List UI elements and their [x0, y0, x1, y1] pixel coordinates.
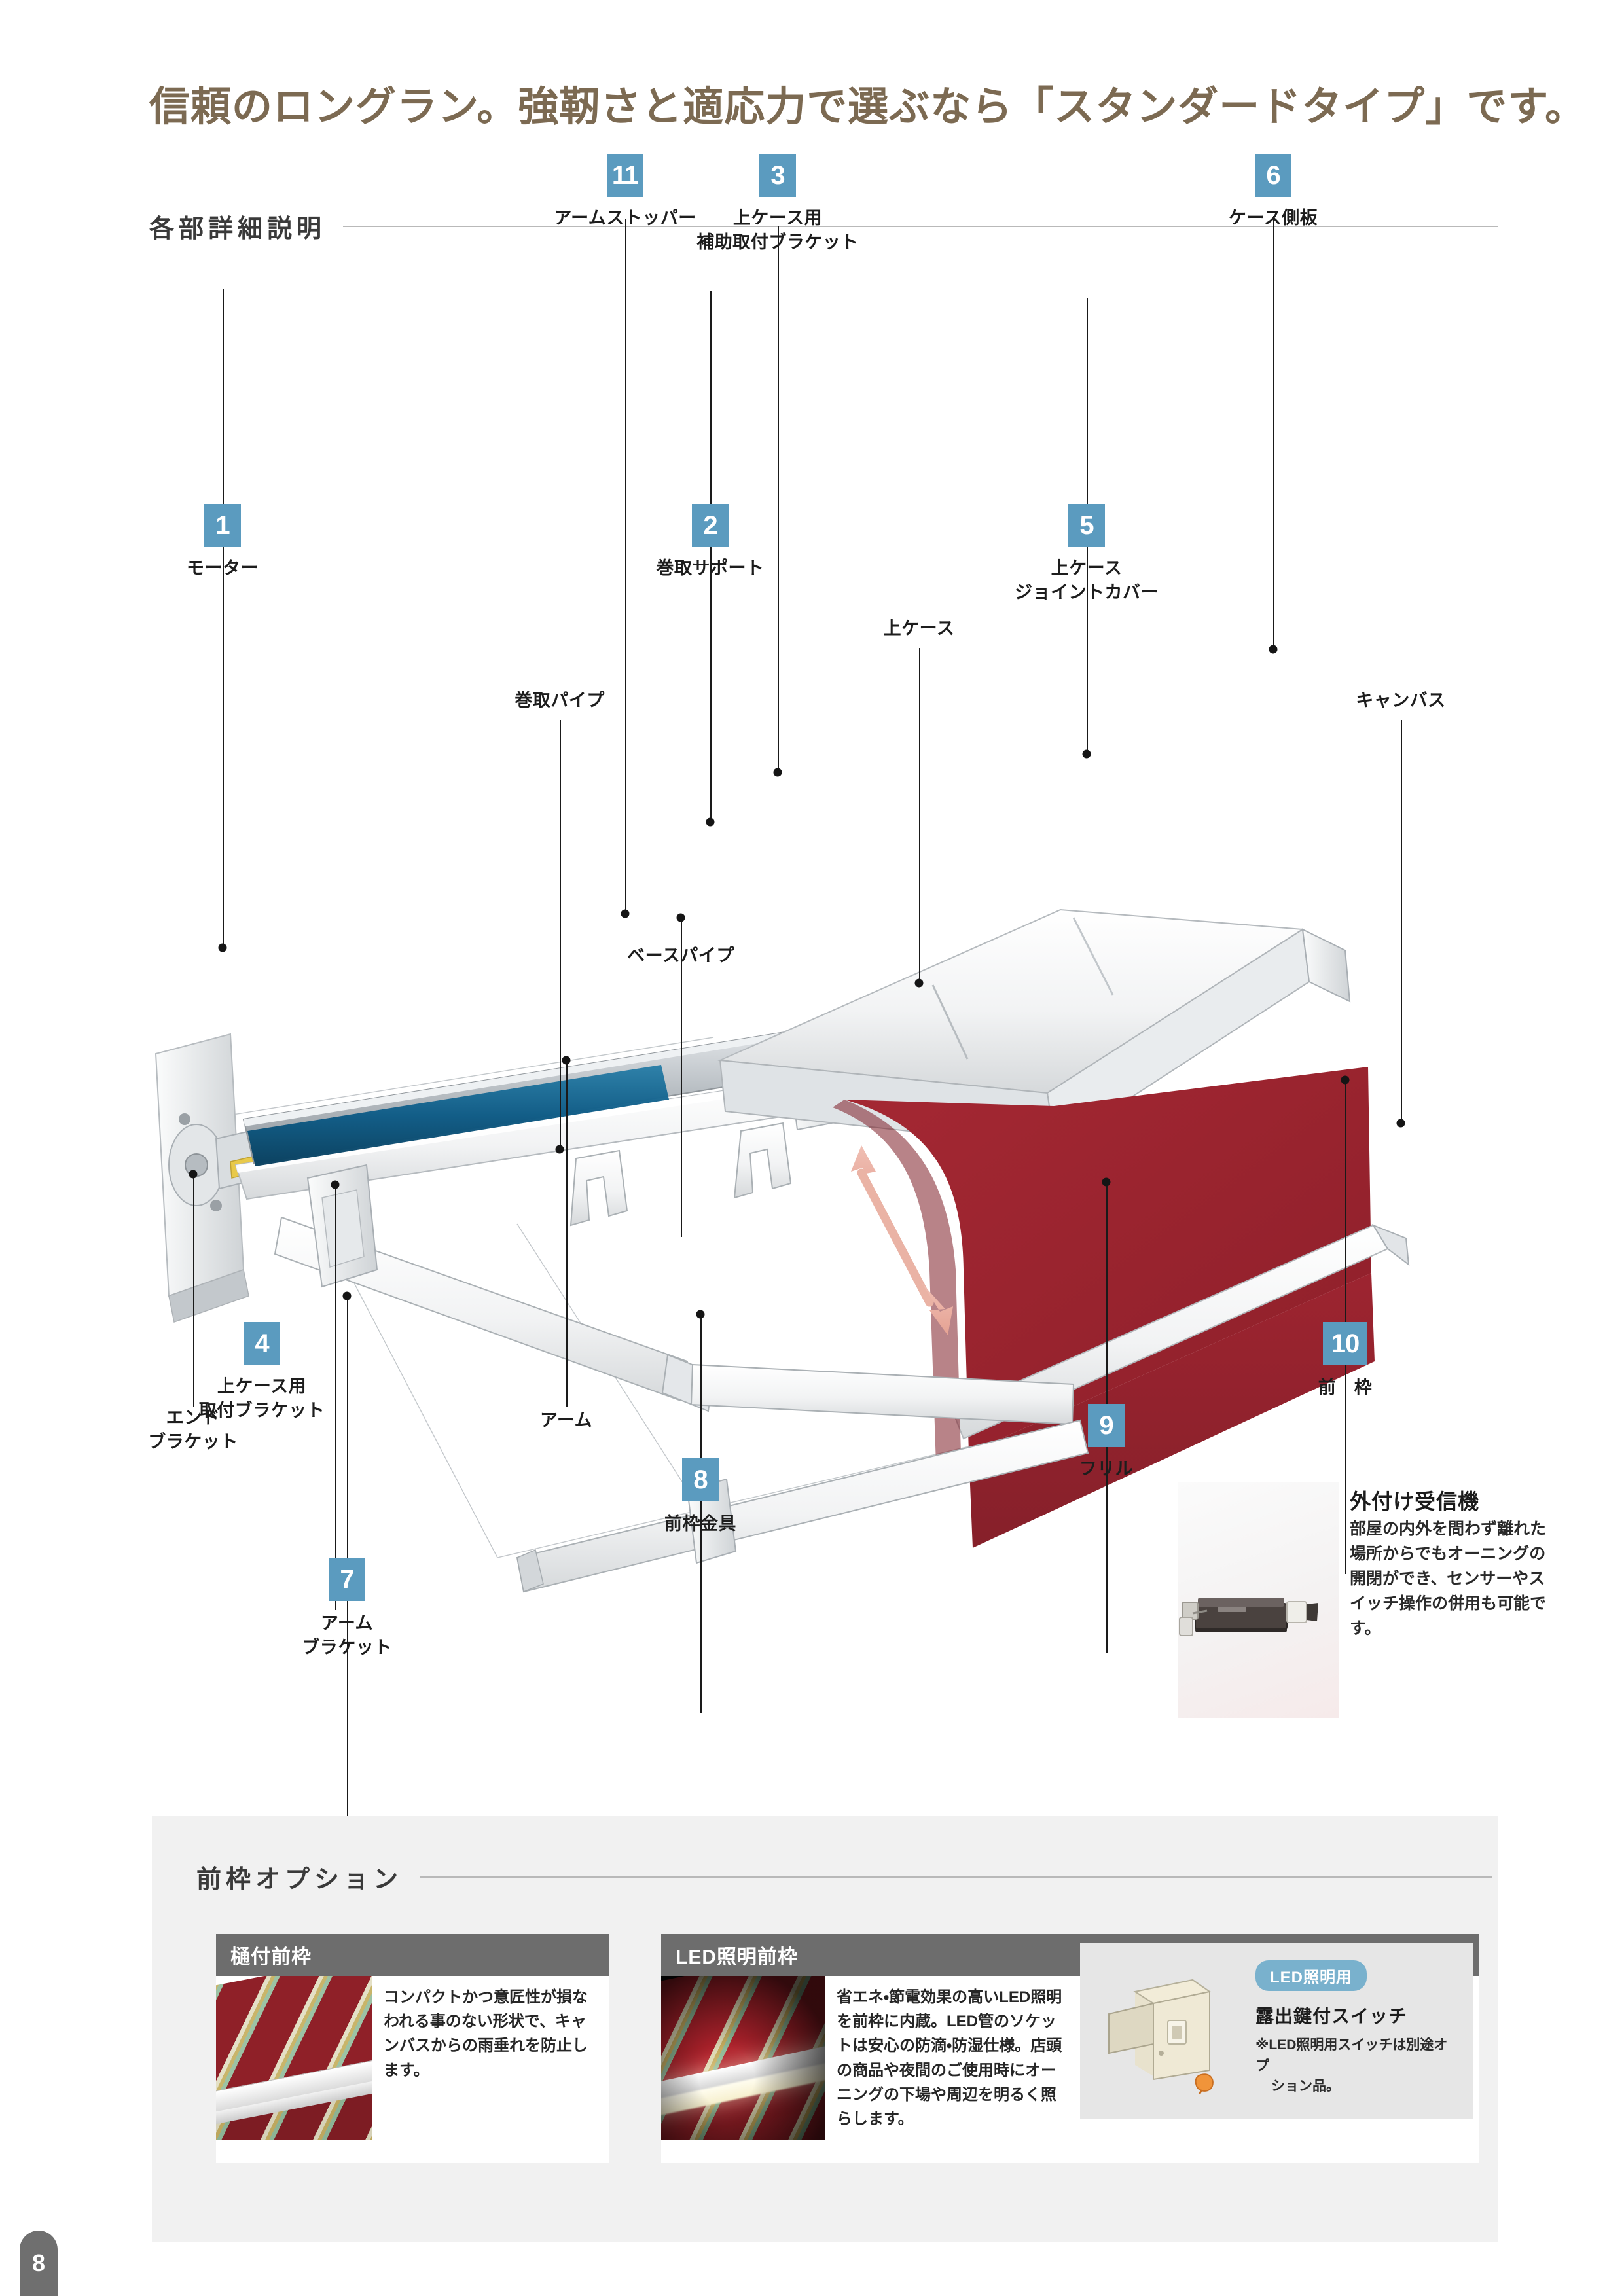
callout-label-aux-bracket-line1: 上ケース用 — [733, 208, 822, 228]
exposed-switch-note-line2: ション品。 — [1255, 2076, 1452, 2097]
callout-label-aux-bracket: 上ケース用 補助取付ブラケット — [696, 206, 859, 255]
option-card-gutter-front-frame: 樋付前枠 コンパクトかつ意匠性が損なわれる事のない形状で、キャンバスからの雨垂れ… — [216, 1934, 609, 2163]
section-heading-front-frame-option: 前枠オプション — [196, 1859, 1492, 1895]
callout-badge-8: 8 — [682, 1458, 719, 1501]
callout-badge-2: 2 — [692, 504, 729, 547]
anchor-dot-winding-pipe — [556, 1145, 564, 1154]
anchor-dot-upper-case — [915, 979, 924, 988]
receiver-device-illustration — [1178, 1482, 1339, 1718]
option-card-header-gutter: 樋付前枠 — [216, 1934, 609, 1976]
exposed-switch-title: 露出鍵付スイッチ — [1255, 2002, 1407, 2028]
callout-label-front-frame-fitting: 前枠金具 — [664, 1512, 736, 1536]
callout-badge-10: 10 — [1323, 1322, 1367, 1365]
catalog-page: 信頼のロングラン。強靭さと適応力で選ぶなら「スタンダードタイプ」です。 各部詳細… — [0, 0, 1624, 2296]
anchor-dot-frill — [1102, 1178, 1111, 1187]
section-title-text: 各部詳細説明 — [149, 208, 326, 244]
led-switch-subcard: LED照明用 露出鍵付スイッチ ※LED照明用スイッチは別途オプ ション品。 — [1080, 1943, 1473, 2119]
callout-label-arm-stopper: アームストッパー — [554, 206, 696, 230]
anchor-dot-front-frame — [1341, 1076, 1350, 1085]
callout-badge-4: 4 — [244, 1322, 280, 1365]
callout-badge-5: 5 — [1068, 504, 1105, 547]
exposed-switch-illustration — [1094, 1960, 1235, 2094]
leader-line-upper-case-bracket — [335, 1185, 336, 1610]
callout-label-frill: フリル — [1079, 1457, 1134, 1481]
section-rule — [343, 226, 1498, 227]
led-usage-pill: LED照明用 — [1255, 1960, 1367, 1991]
anchor-dot-base-pipe — [677, 914, 685, 922]
label-end-bracket-line2: ブラケット — [148, 1432, 238, 1452]
page-number-tab: 8 — [20, 2231, 58, 2296]
receiver-description: 部屋の内外を問わず離れた場所からでもオーニングの開閉ができ、センサーやスイッチ操… — [1350, 1516, 1546, 1641]
anchor-dot-upper-case-bracket — [331, 1181, 340, 1189]
leader-line-end-bracket — [193, 1175, 194, 1407]
callout-label-arm-bracket-line2: ブラケット — [302, 1638, 392, 1657]
gutter-front-frame-photo — [216, 1976, 372, 2140]
label-end-bracket-line1: エンド — [166, 1408, 221, 1427]
exposed-switch-note: ※LED照明用スイッチは別途オプ ション品。 — [1255, 2035, 1452, 2097]
callout-label-upper-case-bracket-line1: 上ケース用 — [217, 1376, 306, 1396]
anchor-dot-joint-cover — [1083, 750, 1091, 759]
external-receiver-photo — [1178, 1482, 1339, 1718]
leader-line-canvas — [1401, 720, 1402, 1122]
anchor-dot-front-frame-fitting — [696, 1310, 705, 1319]
anchor-dot-aux-bracket — [774, 768, 782, 777]
callout-badge-3: 3 — [759, 154, 796, 197]
anchor-dot-arm-bracket — [343, 1292, 352, 1300]
callout-label-aux-bracket-line2: 補助取付ブラケット — [696, 232, 859, 252]
leader-line-arm — [566, 1060, 568, 1407]
callout-label-joint-cover: 上ケース ジョイントカバー — [1015, 556, 1159, 605]
label-base-pipe: ベースパイプ — [627, 944, 734, 968]
anchor-dot-winding-support — [706, 818, 715, 827]
callout-badge-6: 6 — [1255, 154, 1291, 197]
callout-label-case-side-plate: ケース側板 — [1229, 206, 1318, 230]
option-card-text-gutter: コンパクトかつ意匠性が損なわれる事のない形状で、キャンバスからの雨垂れを防止しま… — [372, 1976, 594, 2140]
anchor-dot-motor — [219, 944, 227, 952]
anchor-dot-arm — [562, 1056, 571, 1065]
callout-label-arm-bracket-line1: アーム — [321, 1613, 373, 1633]
leader-line-winding-pipe — [560, 720, 561, 1149]
anchor-dot-case-side-plate — [1269, 645, 1278, 654]
leader-line-upper-case — [919, 648, 920, 982]
leader-line-aux-bracket — [778, 226, 779, 772]
label-winding-pipe: 巻取パイプ — [514, 689, 605, 713]
option-card-body-gutter: コンパクトかつ意匠性が損なわれる事のない形状で、キャンバスからの雨垂れを防止しま… — [216, 1976, 609, 2140]
leader-line-motor — [223, 289, 224, 947]
callout-label-arm-bracket: アーム ブラケット — [302, 1611, 392, 1660]
callout-badge-1: 1 — [204, 504, 241, 547]
receiver-title: 外付け受信機 — [1350, 1485, 1479, 1515]
callout-label-joint-cover-line1: 上ケース — [1051, 558, 1123, 578]
callout-label-joint-cover-line2: ジョイントカバー — [1015, 583, 1159, 602]
anchor-dot-canvas — [1397, 1119, 1405, 1128]
exposed-switch-note-line1: ※LED照明用スイッチは別途オプ — [1255, 2037, 1447, 2073]
label-upper-case: 上ケース — [884, 617, 955, 641]
label-canvas: キャンバス — [1356, 689, 1446, 713]
callout-badge-11: 11 — [607, 154, 643, 197]
callout-badge-9: 9 — [1088, 1404, 1125, 1447]
anchor-dot-arm-stopper — [621, 910, 630, 918]
exposed-switch-photo — [1094, 1960, 1235, 2094]
leader-line-arm-stopper — [625, 219, 626, 913]
label-end-bracket: エンド ブラケット — [148, 1406, 238, 1455]
option-card-text-led: 省エネ・節電効果の高いLED照明を前枠に内蔵。LED管のソケットは安心の防滴・防… — [825, 1976, 1074, 2140]
option-card-led-front-frame: LED照明前枠 省エネ・節電効果の高いLED照明を前枠に内蔵。LED管のソケット… — [661, 1934, 1479, 2163]
callout-label-winding-support: 巻取サポート — [657, 556, 765, 581]
led-front-frame-photo — [661, 1976, 825, 2140]
photo-vignette — [661, 1976, 825, 2140]
callout-badge-7: 7 — [329, 1558, 365, 1601]
leader-line-case-side-plate — [1273, 216, 1274, 648]
section-title-text-option: 前枠オプション — [196, 1859, 403, 1895]
page-headline: 信頼のロングラン。強靭さと適応力で選ぶなら「スタンダードタイプ」です。 — [149, 73, 1586, 132]
callout-label-front-frame: 前 枠 — [1318, 1376, 1373, 1400]
label-arm: アーム — [540, 1408, 592, 1433]
option-card-body-led: 省エネ・節電効果の高いLED照明を前枠に内蔵。LED管のソケットは安心の防滴・防… — [661, 1976, 1479, 2140]
callout-label-motor: モーター — [187, 556, 259, 581]
anchor-dot-end-bracket — [189, 1170, 198, 1179]
section-rule-option — [420, 1876, 1492, 1878]
external-receiver-panel: 外付け受信機 部屋の内外を問わず離れた場所からでもオーニングの開閉ができ、センサ… — [1178, 1482, 1545, 1731]
